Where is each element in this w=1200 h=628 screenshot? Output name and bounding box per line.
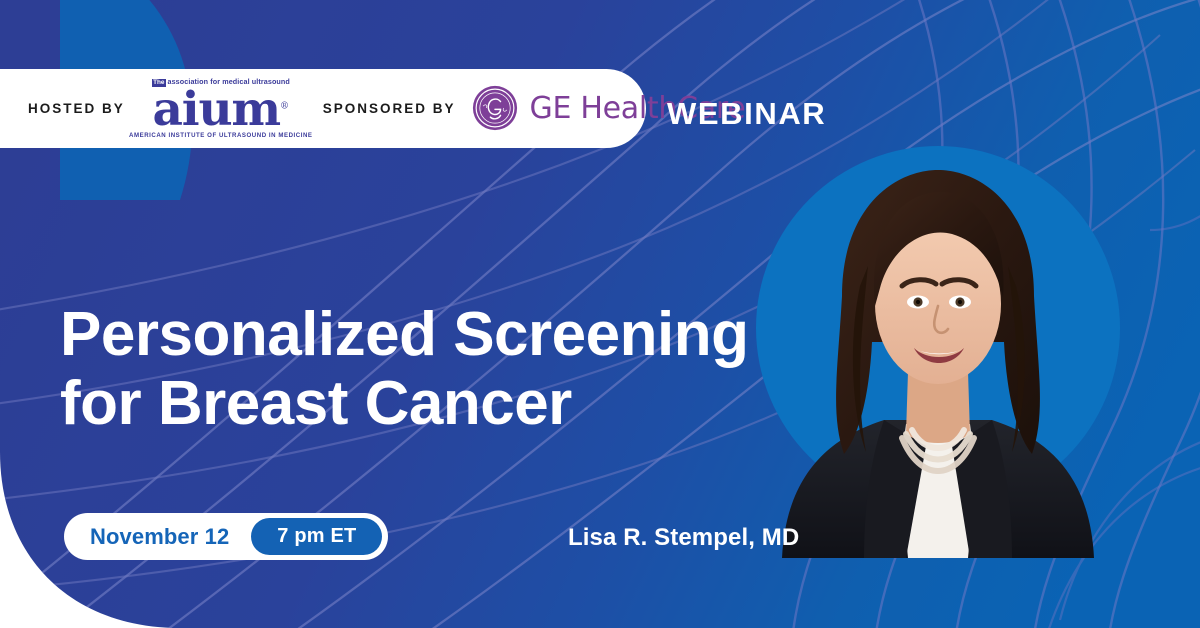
page-title: Personalized Screening for Breast Cancer [60,300,748,439]
aium-registered-icon: ® [280,101,289,111]
schedule-pill[interactable]: November 12 7 pm ET [64,513,388,560]
aium-wordmark: aium® [153,88,289,131]
speaker-name: Lisa R. Stempel, MD [568,524,799,552]
ge-monogram-icon [472,85,518,131]
aium-logo[interactable]: The association for medical ultrasound a… [143,78,299,139]
sponsored-by-label: SPONSORED BY [323,101,456,116]
hosted-by-label: HOSTED BY [28,101,125,116]
headline-line-2: for Breast Cancer [60,369,748,438]
sponsor-header-bar: HOSTED BY The association for medical ul… [0,69,646,148]
portrait-illustration [756,146,1120,558]
webinar-badge: WEBINAR [667,96,826,132]
headline-line-1: Personalized Screening [60,300,748,369]
speaker-portrait [756,146,1120,558]
webinar-banner: HOSTED BY The association for medical ul… [0,0,1200,628]
aium-wordmark-text: aium [153,82,280,137]
webinar-time: 7 pm ET [251,518,382,555]
webinar-date: November 12 [90,524,229,550]
